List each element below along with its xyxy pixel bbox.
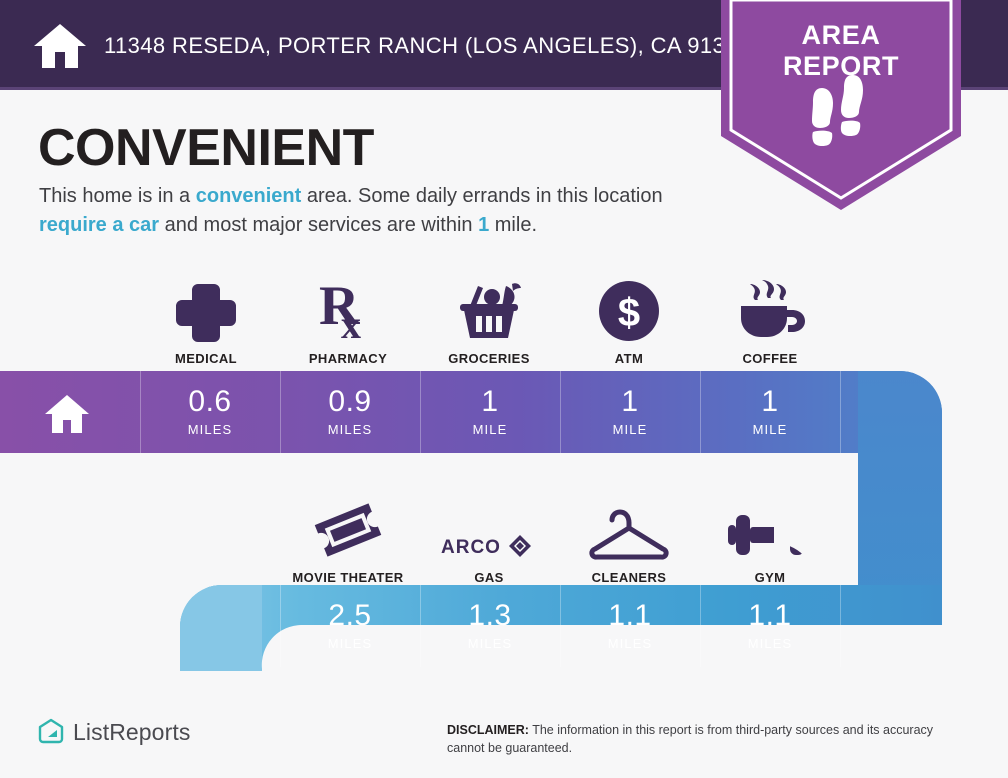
category-label: PHARMACY bbox=[309, 351, 387, 366]
svg-text:x: x bbox=[341, 302, 361, 342]
listreports-logo: ListReports bbox=[38, 718, 190, 746]
desc-highlight-3: 1 bbox=[478, 214, 489, 236]
distance-gas: 1.3 MILES bbox=[420, 585, 560, 667]
distance-atm: 1 MILE bbox=[560, 371, 700, 453]
distance-cleaners: 1.1 MILES bbox=[560, 585, 700, 667]
grocery-basket-icon bbox=[454, 280, 524, 342]
category-label: GROCERIES bbox=[448, 351, 530, 366]
desc-part-1: This home is in a bbox=[39, 185, 196, 207]
distance-coffee: 1 MILE bbox=[700, 371, 840, 453]
distance-value: 1 bbox=[621, 387, 638, 417]
property-address: 11348 RESEDA, PORTER RANCH (LOS ANGELES)… bbox=[104, 33, 750, 59]
house-icon bbox=[32, 22, 88, 70]
disclaimer: DISCLAIMER: The information in this repo… bbox=[447, 721, 967, 757]
distance-medical: 0.6 MILES bbox=[140, 371, 280, 453]
area-report-badge: AREA REPORT bbox=[721, 0, 961, 214]
distance-value: 2.5 bbox=[328, 601, 371, 631]
distance-unit: MILE bbox=[613, 422, 648, 437]
desc-highlight-2: require a car bbox=[39, 214, 159, 236]
distance-unit: MILES bbox=[748, 636, 793, 651]
rx-icon: R x bbox=[319, 280, 377, 342]
distance-value: 1 bbox=[761, 387, 778, 417]
desc-part-3: and most major services are within bbox=[159, 214, 478, 236]
category-icon-row-1: MEDICAL R x PHARMACY bbox=[0, 266, 1008, 366]
distance-unit: MILES bbox=[328, 636, 373, 651]
category-coffee: COFFEE bbox=[700, 266, 840, 366]
medical-cross-icon bbox=[175, 280, 237, 342]
distance-groceries: 1 MILE bbox=[420, 371, 560, 453]
distance-gym: 1.1 MILES bbox=[700, 585, 840, 667]
distance-segments: 0.6 MILES 0.9 MILES 1 MILE 1 MILE 1 MILE… bbox=[0, 371, 1008, 671]
distance-movie-theater: 2.5 MILES bbox=[280, 585, 420, 667]
distance-unit: MILE bbox=[473, 422, 508, 437]
logo-text: ListReports bbox=[73, 719, 190, 746]
distance-value: 1.1 bbox=[748, 601, 791, 631]
category-pharmacy: R x PHARMACY bbox=[278, 266, 418, 366]
distance-unit: MILES bbox=[468, 636, 513, 651]
category-label: MEDICAL bbox=[175, 351, 237, 366]
svg-text:$: $ bbox=[618, 291, 640, 335]
desc-part-4: mile. bbox=[489, 214, 537, 236]
distance-value: 1.1 bbox=[608, 601, 651, 631]
distance-unit: MILES bbox=[188, 422, 233, 437]
page-description: This home is in a convenient area. Some … bbox=[39, 182, 699, 240]
disclaimer-label: DISCLAIMER: bbox=[447, 723, 529, 737]
coffee-cup-icon bbox=[735, 280, 805, 342]
distance-value: 1.3 bbox=[468, 601, 511, 631]
home-marker-icon bbox=[44, 394, 90, 434]
category-label: COFFEE bbox=[742, 351, 797, 366]
distance-value: 1 bbox=[481, 387, 498, 417]
desc-part-2: area. Some daily errands in this locatio… bbox=[301, 185, 662, 207]
distance-unit: MILES bbox=[328, 422, 373, 437]
distance-value: 0.9 bbox=[328, 387, 371, 417]
distance-value: 0.6 bbox=[188, 387, 231, 417]
category-atm: $ ATM bbox=[559, 266, 699, 366]
page-title: CONVENIENT bbox=[38, 118, 374, 178]
category-groceries: GROCERIES bbox=[419, 266, 559, 366]
dollar-circle-icon: $ bbox=[598, 280, 660, 342]
distance-unit: MILES bbox=[608, 636, 653, 651]
distance-pharmacy: 0.9 MILES bbox=[280, 371, 420, 453]
listreports-tag-icon bbox=[38, 718, 64, 746]
desc-highlight-1: convenient bbox=[196, 185, 302, 207]
category-label: ATM bbox=[615, 351, 643, 366]
category-medical: MEDICAL bbox=[136, 266, 276, 366]
distance-unit: MILE bbox=[753, 422, 788, 437]
distance-ribbon: 0.6 MILES 0.9 MILES 1 MILE 1 MILE 1 MILE… bbox=[0, 371, 1008, 671]
